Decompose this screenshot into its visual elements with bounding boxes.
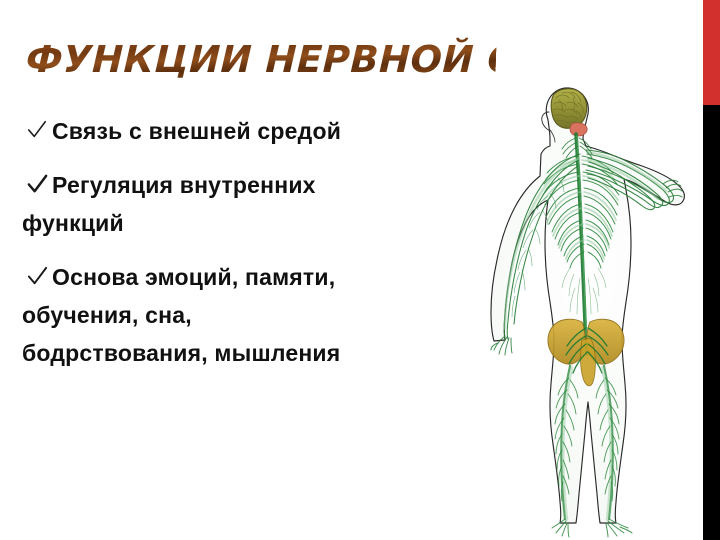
bullet-list: Связь с внешней средой Регуляция внутрен…	[22, 112, 492, 388]
bullet-text: обучения, сна,	[22, 296, 492, 334]
bullet-text: функций	[22, 204, 492, 242]
bullet-text: Основа эмоций, памяти,	[22, 258, 492, 296]
check-icon	[26, 118, 50, 144]
slide-title: ФУНКЦИИ НЕРВНОЙ СИСТЕМЫ	[25, 33, 497, 87]
bullet-text: бодрствования, мышления	[22, 334, 492, 372]
bullet-item-1: Связь с внешней средой	[22, 112, 492, 150]
bullet-item-2: Регуляция внутренних функций	[22, 166, 492, 242]
check-icon	[26, 264, 50, 290]
check-icon	[26, 172, 50, 198]
bullet-text: Связь с внешней средой	[22, 112, 492, 150]
slide-canvas: ФУНКЦИИ НЕРВНОЙ СИСТЕМЫ Связь с внешней …	[0, 0, 720, 540]
human-nervous-system-diagram	[470, 78, 706, 540]
bullet-item-3: Основа эмоций, памяти, обучения, сна, бо…	[22, 258, 492, 372]
bullet-text: Регуляция внутренних	[22, 166, 492, 204]
